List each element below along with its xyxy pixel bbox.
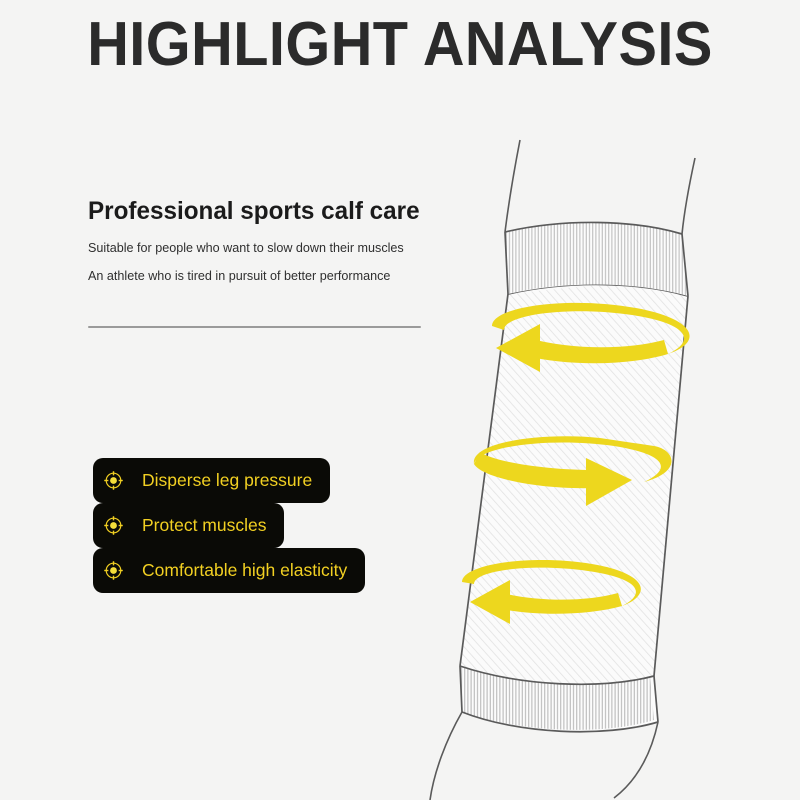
ankle-outline-right [614, 722, 658, 798]
thigh-outline-right [682, 158, 695, 234]
crosshair-icon [104, 561, 123, 580]
feature-pill-protect-muscles[interactable]: Protect muscles [93, 503, 284, 548]
calf-sleeve-illustration [400, 110, 800, 800]
feature-pill-disperse-leg-pressure[interactable]: Disperse leg pressure [93, 458, 330, 503]
ankle-outline-left [430, 712, 462, 800]
copy-divider [88, 326, 421, 328]
feature-label: Disperse leg pressure [142, 471, 312, 490]
feature-label: Protect muscles [142, 516, 266, 535]
calf-sleeve-drawing [400, 110, 800, 800]
poster-canvas: HIGHLIGHT ANALYSIS Professional sports c… [0, 0, 800, 800]
crosshair-icon [104, 471, 123, 490]
crosshair-icon [104, 516, 123, 535]
feature-label: Comfortable high elasticity [142, 561, 347, 580]
page-title: HIGHLIGHT ANALYSIS [28, 12, 772, 78]
feature-pill-comfortable-high-elasticity[interactable]: Comfortable high elasticity [93, 548, 365, 593]
thigh-outline-left [505, 140, 520, 232]
